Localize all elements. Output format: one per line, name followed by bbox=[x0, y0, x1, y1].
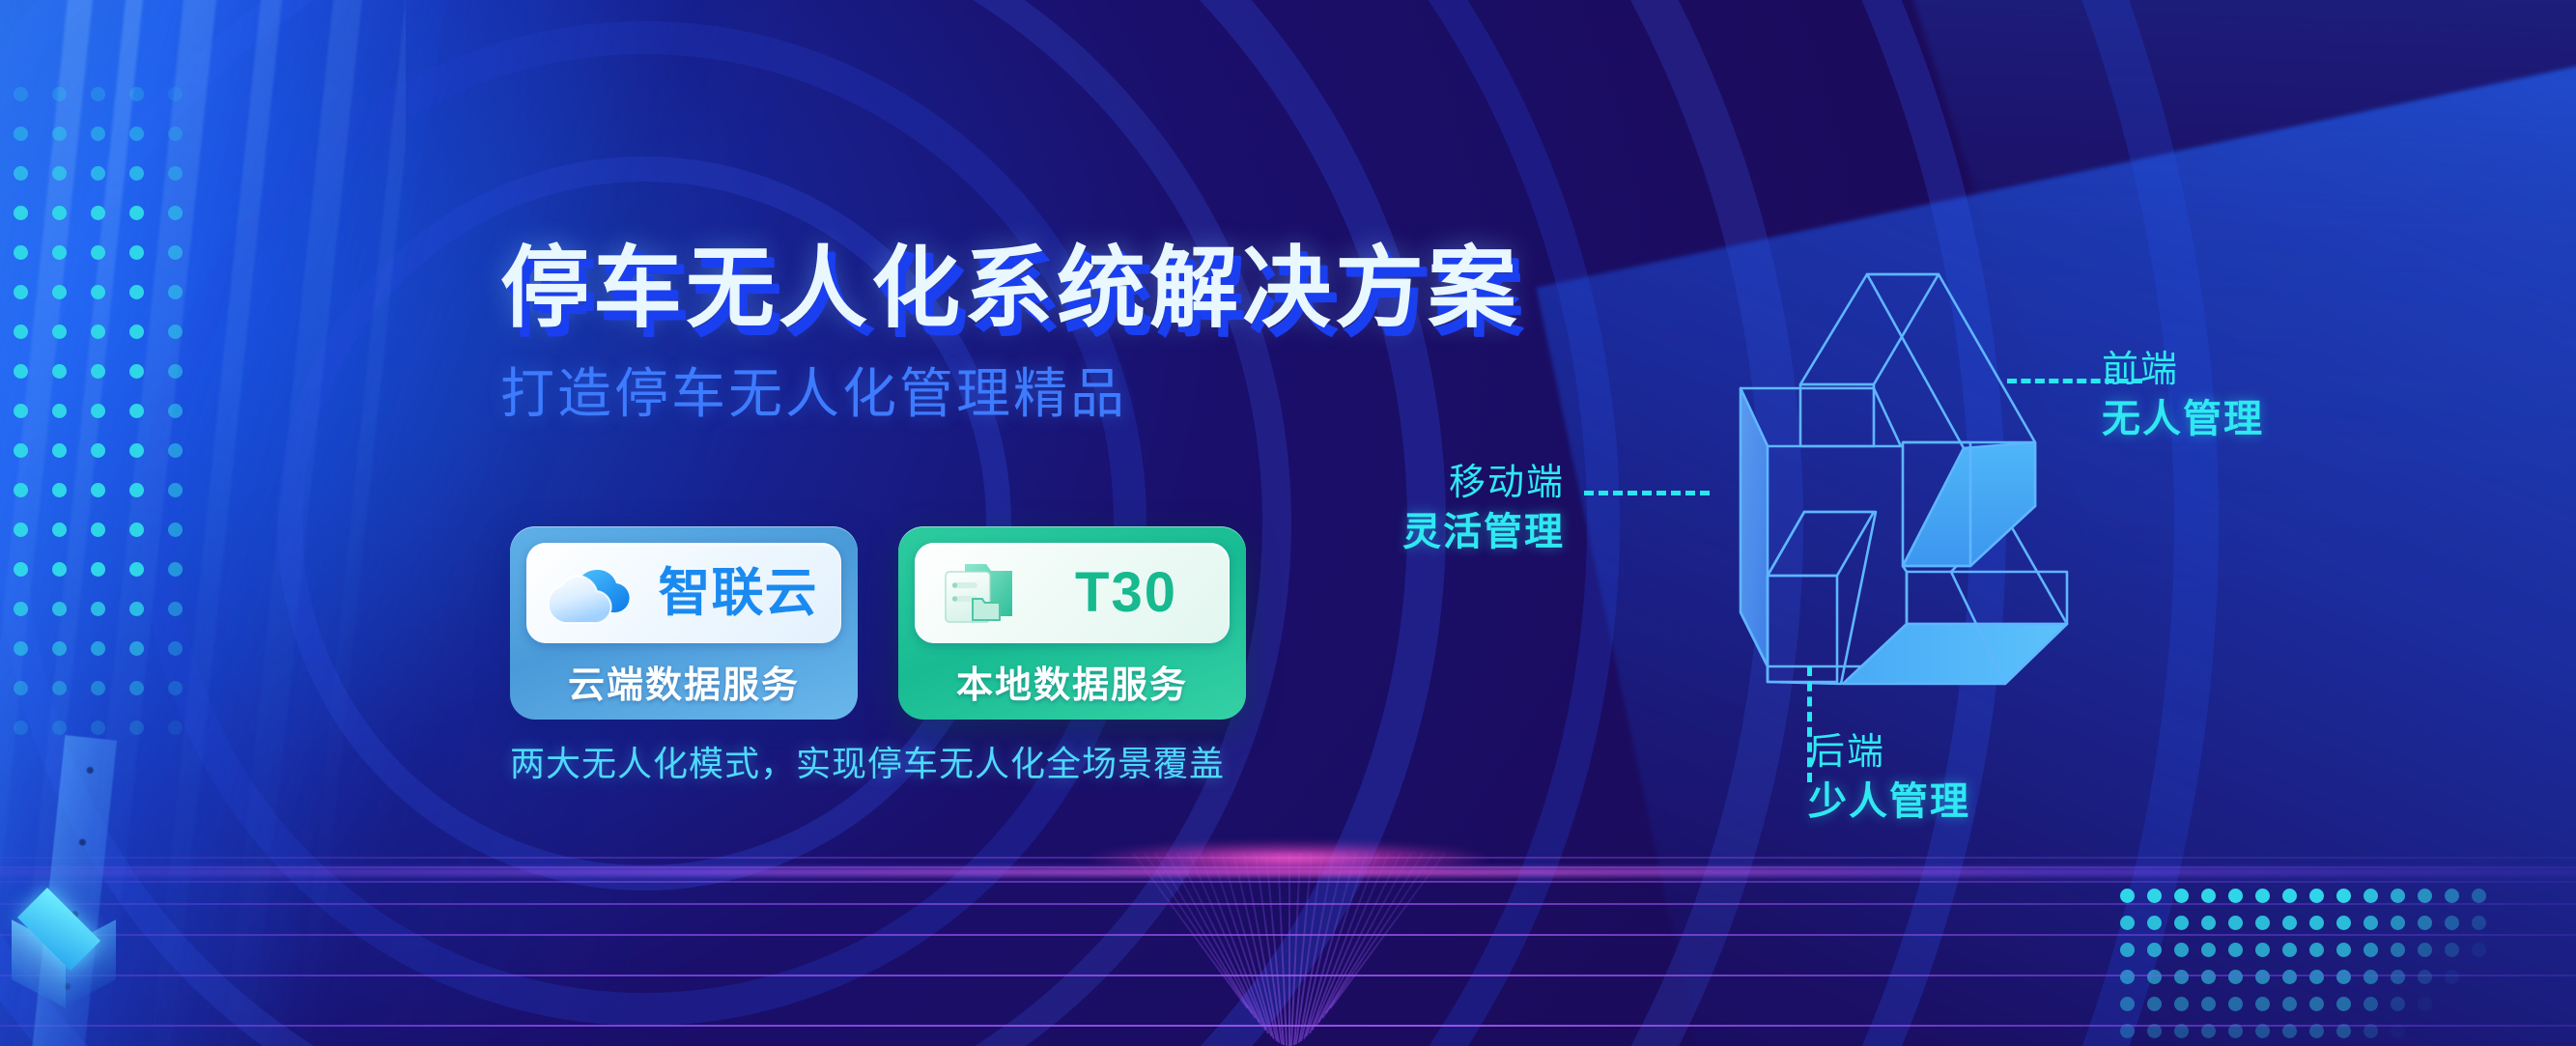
label-front-end-line1: 前端 bbox=[2102, 348, 2264, 394]
connector-mobile-end bbox=[1584, 491, 1710, 495]
label-mobile-end-line2: 灵活管理 bbox=[1256, 507, 1565, 557]
horizon-glow bbox=[1086, 841, 1491, 876]
card-brand-name: T30 bbox=[1038, 565, 1214, 621]
label-front-end: 前端 无人管理 bbox=[2102, 348, 2264, 444]
label-back-end-line1: 后端 bbox=[1808, 730, 1970, 777]
label-mobile-end: 移动端 灵活管理 bbox=[1256, 461, 1565, 557]
perspective-grid-floor bbox=[0, 853, 2576, 1046]
card-brand-name: 智联云 bbox=[650, 567, 826, 619]
label-back-end-line2: 少人管理 bbox=[1808, 777, 1970, 827]
label-mobile-end-line1: 移动端 bbox=[1256, 461, 1565, 507]
card-label: 云端数据服务 bbox=[526, 655, 841, 708]
impossible-triangle-icon bbox=[1632, 253, 2096, 707]
card-local-service[interactable]: T30 本地数据服务 bbox=[898, 526, 1246, 720]
page-subtitle: 打造停车无人化管理精品 bbox=[500, 351, 1520, 429]
hero-copy: 停车无人化系统解决方案 打造停车无人化管理精品 bbox=[500, 241, 1520, 429]
hero-caption: 两大无人化模式，实现停车无人化全场景覆盖 bbox=[510, 736, 1225, 786]
hero-banner: 停车无人化系统解决方案 打造停车无人化管理精品 bbox=[0, 0, 2576, 1046]
dot-matrix-left bbox=[14, 87, 187, 753]
service-mode-cards: 智联云 云端数据服务 bbox=[510, 526, 1246, 720]
label-front-end-line2: 无人管理 bbox=[2102, 394, 2264, 444]
card-label: 本地数据服务 bbox=[915, 655, 1230, 708]
card-cloud-service[interactable]: 智联云 云端数据服务 bbox=[510, 526, 858, 720]
card-logo-pill: 智联云 bbox=[526, 543, 841, 643]
folder-files-icon bbox=[930, 551, 1031, 636]
label-back-end: 后端 少人管理 bbox=[1808, 730, 1970, 827]
card-logo-pill: T30 bbox=[915, 543, 1230, 643]
page-title: 停车无人化系统解决方案 bbox=[500, 241, 1520, 337]
cloud-icon bbox=[542, 551, 642, 636]
glow-cube-icon bbox=[6, 891, 122, 1007]
